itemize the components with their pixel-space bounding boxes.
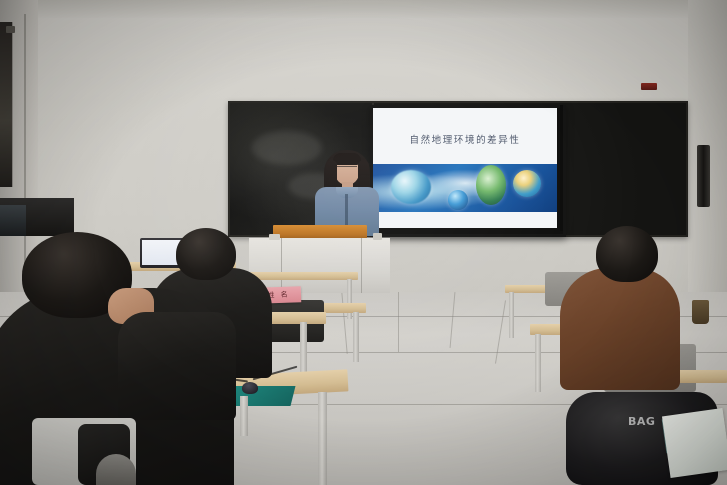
slide-title: 自然地理环境的差异性 bbox=[373, 132, 557, 146]
desk-leg bbox=[535, 334, 541, 392]
slide: 自然地理环境的差异性 bbox=[373, 108, 557, 228]
attendee-front-arm bbox=[118, 312, 236, 420]
desk-leg bbox=[509, 292, 514, 338]
floor-grout-line bbox=[398, 292, 399, 352]
desk-top bbox=[250, 272, 358, 280]
desk-leg bbox=[240, 396, 248, 436]
podium-seam bbox=[361, 238, 362, 293]
slide-banner-image bbox=[373, 164, 557, 212]
globe-icon bbox=[513, 170, 541, 197]
podium-object bbox=[269, 234, 280, 240]
podium-object bbox=[373, 233, 382, 240]
projection-display: 自然地理环境的差异性 bbox=[370, 105, 566, 237]
presenter bbox=[310, 150, 384, 236]
papers bbox=[662, 408, 727, 478]
desk-leg bbox=[353, 312, 359, 362]
attendee-right-torso bbox=[560, 268, 680, 390]
podium-body bbox=[249, 238, 390, 293]
podium bbox=[243, 225, 396, 293]
wall-sign-icon bbox=[641, 83, 657, 90]
desk-leg bbox=[347, 279, 352, 319]
left-window-frame bbox=[0, 22, 13, 187]
slide-footer bbox=[373, 212, 557, 228]
cup bbox=[692, 300, 709, 324]
ceiling bbox=[0, 0, 727, 18]
glasses-icon bbox=[337, 166, 357, 172]
rear-monitor-side bbox=[0, 205, 26, 236]
wall-speaker-icon bbox=[697, 145, 710, 207]
desk-leg bbox=[318, 392, 327, 485]
attendee-right-head bbox=[596, 226, 658, 282]
mouse bbox=[242, 382, 258, 394]
attendee-mid-head bbox=[176, 228, 236, 280]
podium-top bbox=[273, 225, 367, 239]
globe-icon bbox=[448, 190, 468, 210]
podium-seam bbox=[281, 238, 282, 293]
ceiling-vent bbox=[6, 26, 15, 33]
classroom-photo: 自然地理环境的差异性 bbox=[0, 0, 727, 485]
presenter-fringe bbox=[333, 153, 361, 165]
globe-icon bbox=[476, 165, 506, 205]
display-bezel-seam bbox=[560, 105, 563, 231]
globe-icon bbox=[391, 170, 431, 204]
